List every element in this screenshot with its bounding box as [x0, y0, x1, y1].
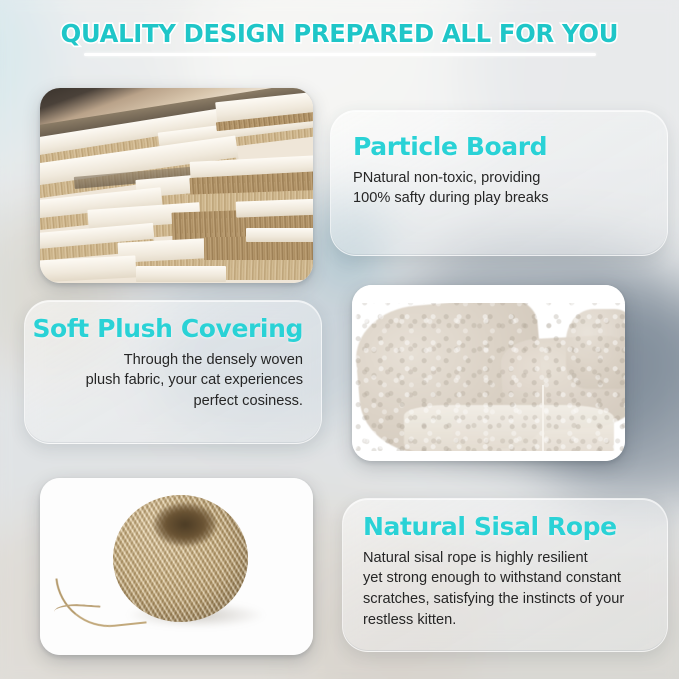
feature-card-natural-sisal-rope: Natural Sisal Rope Natural sisal rope is…	[342, 498, 668, 652]
feature-body-soft-plush-covering: Through the densely woven plush fabric, …	[25, 350, 303, 412]
plush-photo-content	[352, 285, 625, 461]
banner-title-block: QUALITY DESIGN PREPARED ALL FOR YOU	[0, 20, 679, 56]
feature-heading-particle-board: Particle Board	[353, 133, 667, 161]
feature-card-particle-board: Particle Board PNatural non-toxic, provi…	[330, 110, 668, 256]
sisal-rope-image	[40, 478, 313, 655]
feature-heading-soft-plush-covering: Soft Plush Covering	[25, 315, 303, 343]
feature-infographic: QUALITY DESIGN PREPARED ALL FOR YOU	[0, 0, 679, 679]
rope-ball	[113, 495, 248, 622]
rope-loose-strand-end	[53, 602, 100, 621]
feature-heading-natural-sisal-rope: Natural Sisal Rope	[363, 513, 667, 541]
feature-card-soft-plush-covering: Soft Plush Covering Through the densely …	[24, 300, 322, 444]
plush-fabric-image	[352, 285, 625, 461]
title-underline	[84, 53, 596, 56]
feature-body-particle-board: PNatural non-toxic, providing 100% safty…	[353, 168, 667, 209]
particle-board-photo-content	[40, 88, 313, 283]
rope-center-hollow	[154, 503, 216, 546]
particle-board-image	[40, 88, 313, 283]
plush-fiber-texture	[352, 285, 625, 461]
page-title: QUALITY DESIGN PREPARED ALL FOR YOU	[61, 20, 619, 48]
rope-photo-content	[40, 478, 313, 655]
feature-body-natural-sisal-rope: Natural sisal rope is highly resilient y…	[363, 548, 667, 631]
